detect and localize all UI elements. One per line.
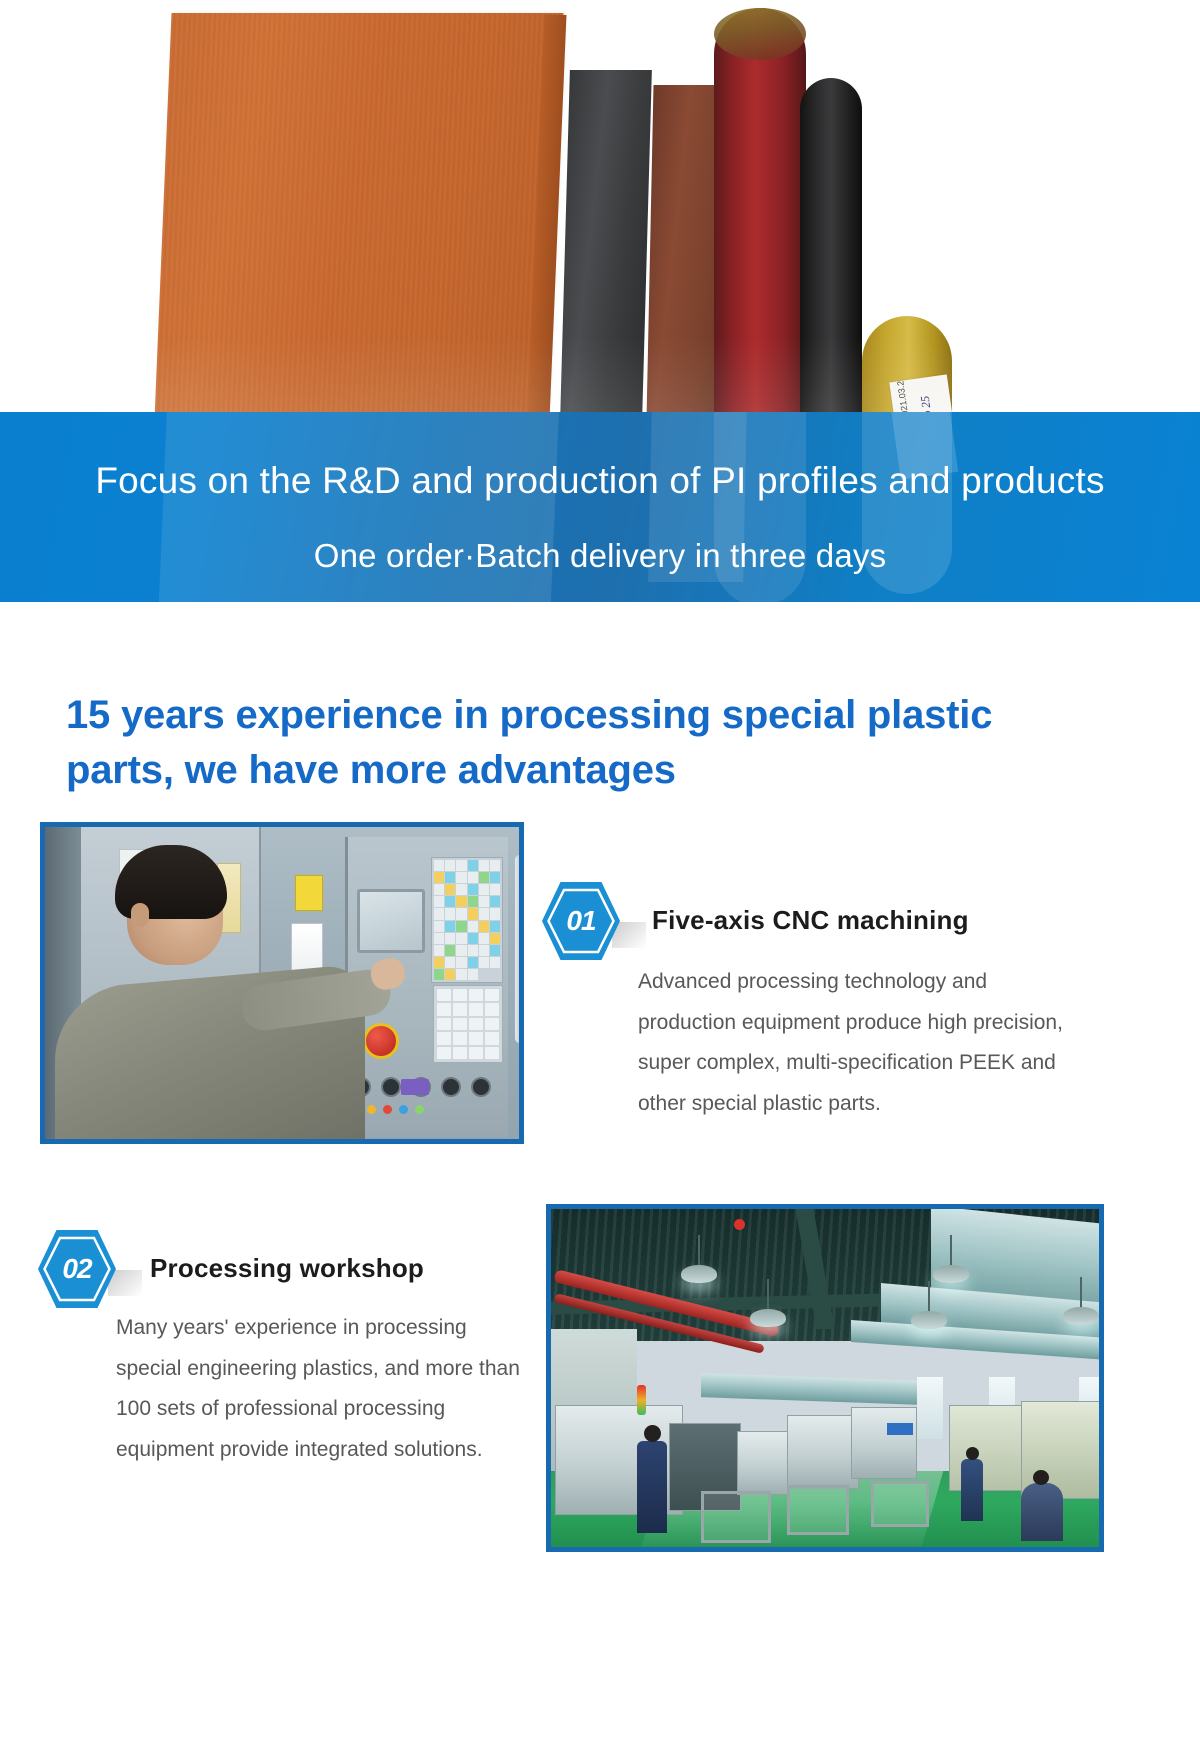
feature-title-02: Processing workshop — [150, 1253, 424, 1284]
cnc-door-handle — [515, 855, 524, 1043]
workshop-sign — [887, 1423, 913, 1435]
workshop-trolley — [701, 1491, 771, 1543]
operator-ear — [131, 903, 149, 927]
workshop-cnc-machine — [737, 1431, 789, 1495]
workshop-air-duct — [701, 1373, 921, 1405]
feature-body-02: Many years' experience in processing spe… — [116, 1308, 526, 1470]
workshop-cnc-machine — [851, 1407, 917, 1479]
workshop-pendant-lamp — [911, 1311, 947, 1329]
feature-badge-02: 02 — [36, 1228, 118, 1310]
page-title: 15 years experience in processing specia… — [66, 688, 1086, 798]
feature-badge-02-number: 02 — [36, 1228, 118, 1310]
workshop-pendant-lamp — [750, 1309, 786, 1327]
dark-red-rod-top — [714, 8, 806, 60]
banner-headline-secondary: One order·Batch delivery in three days — [0, 539, 1200, 572]
workshop-photo — [546, 1204, 1104, 1552]
workshop-pendant-lamp — [1063, 1307, 1099, 1325]
cnc-keypad-grid — [431, 857, 503, 983]
banner-headline-primary: Focus on the R&D and production of PI pr… — [0, 462, 1200, 499]
workshop-cnc-machine — [787, 1415, 859, 1489]
cnc-machining-photo — [40, 822, 524, 1144]
cnc-purple-indicator — [401, 1079, 429, 1095]
cnc-display-screen — [357, 889, 425, 953]
emergency-stop-button — [363, 1023, 399, 1059]
workshop-trolley — [787, 1485, 849, 1535]
cnc-yellow-label — [295, 875, 323, 911]
feature-body-01: Advanced processing technology and produ… — [638, 962, 1068, 1124]
hero-materials-composition: 2021.03.20 φ 25 — [0, 0, 1200, 420]
workshop-pendant-lamp — [681, 1265, 717, 1283]
black-plastic-bar — [560, 70, 652, 420]
tagline-banner: Focus on the R&D and production of PI pr… — [0, 412, 1200, 602]
workshop-pendant-lamp — [933, 1265, 969, 1283]
workshop-window — [917, 1377, 943, 1439]
hero-product-image: 2021.03.20 φ 25 — [0, 0, 1200, 420]
dark-red-plastic-rod — [714, 8, 806, 420]
orange-phenolic-sheet — [154, 13, 563, 420]
feature-title-01: Five-axis CNC machining — [652, 905, 969, 936]
workshop-trolley — [871, 1481, 929, 1527]
cnc-numeric-pad — [433, 985, 503, 1063]
workshop-worker — [961, 1459, 983, 1521]
feature-badge-01-number: 01 — [540, 880, 622, 962]
machine-signal-tower — [637, 1385, 646, 1415]
fire-sprinkler-icon — [734, 1219, 745, 1230]
black-plastic-rod — [800, 78, 862, 420]
feature-badge-01: 01 — [540, 880, 622, 962]
workshop-worker — [1021, 1483, 1063, 1541]
workshop-worker — [637, 1441, 667, 1533]
cnc-status-lights — [351, 1105, 481, 1119]
